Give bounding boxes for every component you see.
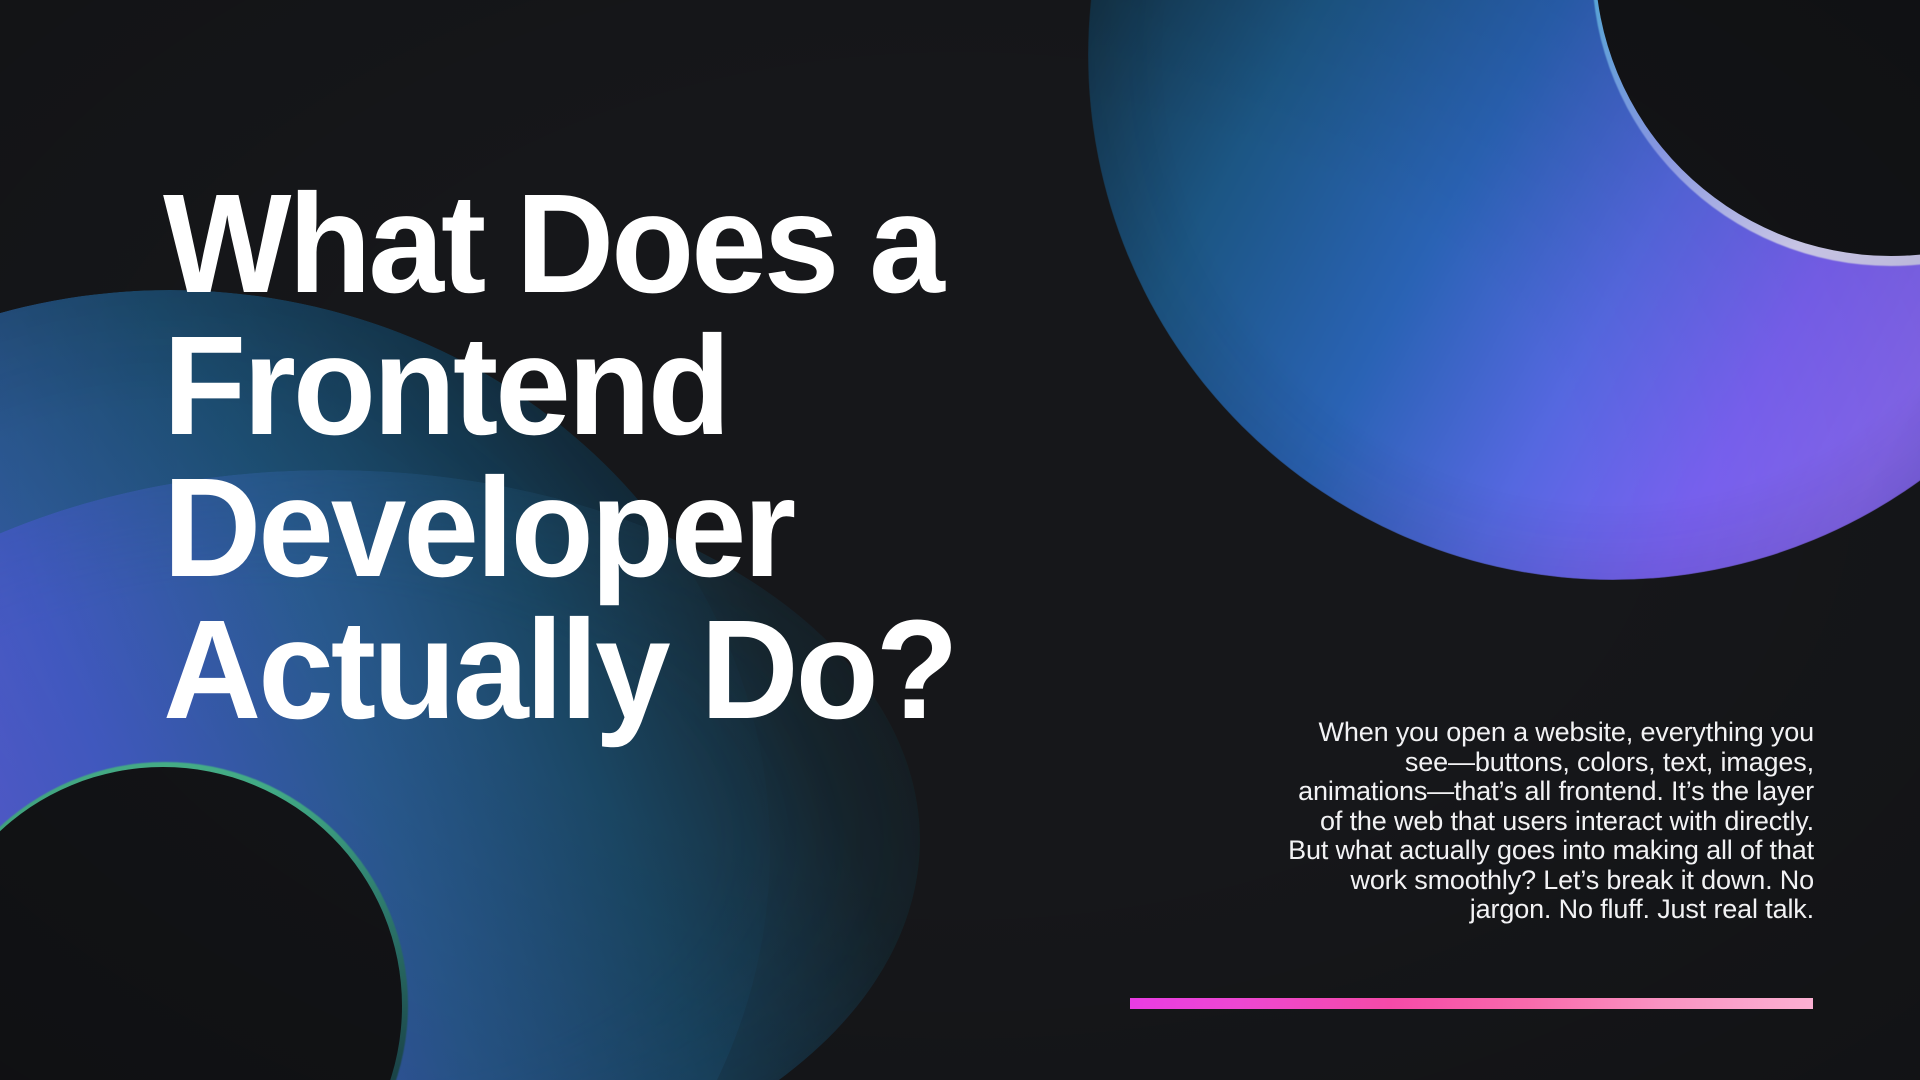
accent-gradient-bar [1130,998,1813,1009]
bottom-left-ring-rim [0,762,408,1080]
page-title: What Does a Frontend Developer Actually … [163,172,1032,740]
intro-paragraph: When you open a website, everything you … [1274,718,1814,925]
top-right-gradient-ring [1088,0,1920,580]
bottom-left-ring-hole [0,767,402,1080]
top-right-ring-rim [1592,0,1920,266]
slide-canvas: What Does a Frontend Developer Actually … [0,0,1920,1080]
intro-paragraph-block: When you open a website, everything you … [1274,718,1814,925]
top-right-ring-hole [1595,0,1920,256]
